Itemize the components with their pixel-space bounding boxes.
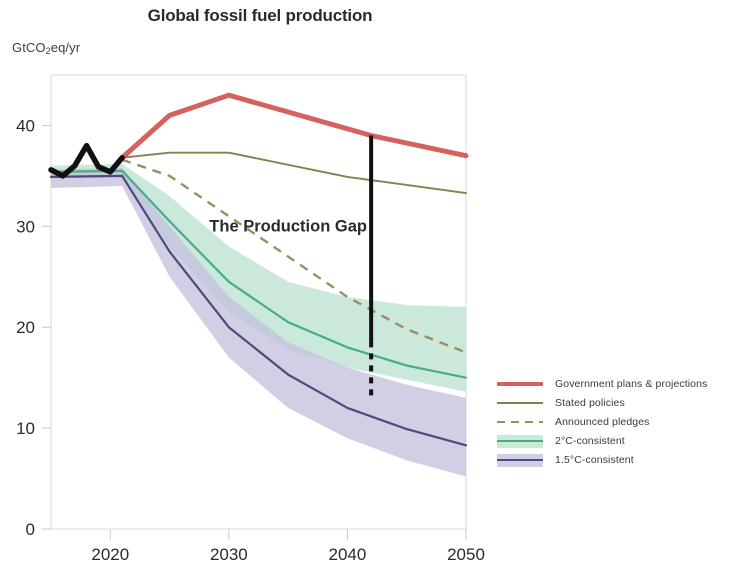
- chart-plot-area: 0102030402020203020402050The Production …: [0, 0, 729, 577]
- y-tick-label: 30: [16, 217, 35, 236]
- x-tick-label: 2020: [91, 545, 129, 564]
- y-tick-label: 40: [16, 116, 35, 135]
- legend-item-announced-pledges[interactable]: Announced pledges: [497, 412, 727, 431]
- legend-swatch-stated-policies: [497, 395, 543, 411]
- legend-item-2c[interactable]: 2°C-consistent: [497, 431, 727, 450]
- y-tick-label: 0: [26, 520, 35, 539]
- x-tick-label: 2030: [210, 545, 248, 564]
- production-gap-annotation: The Production Gap: [209, 217, 367, 235]
- legend-label-stated-policies: Stated policies: [555, 397, 625, 409]
- legend-label-announced-pledges: Announced pledges: [555, 416, 650, 428]
- legend-swatch-15c: [497, 452, 543, 468]
- legend-item-stated-policies[interactable]: Stated policies: [497, 393, 727, 412]
- legend-item-government-plans[interactable]: Government plans & projections: [497, 374, 727, 393]
- legend-swatch-2c: [497, 433, 543, 449]
- chart-legend: Government plans & projections Stated po…: [497, 374, 727, 469]
- chart-root: Global fossil fuel production GtCO2eq/yr…: [0, 0, 729, 577]
- y-tick-label: 10: [16, 419, 35, 438]
- legend-item-15c[interactable]: 1.5°C-consistent: [497, 450, 727, 469]
- legend-label-2c: 2°C-consistent: [555, 435, 625, 447]
- x-tick-label: 2040: [329, 545, 367, 564]
- legend-label-government-plans: Government plans & projections: [555, 378, 707, 390]
- x-tick-label: 2050: [447, 545, 485, 564]
- legend-swatch-announced-pledges: [497, 414, 543, 430]
- legend-label-15c: 1.5°C-consistent: [555, 454, 634, 466]
- y-tick-label: 20: [16, 318, 35, 337]
- legend-swatch-government-plans: [497, 376, 543, 392]
